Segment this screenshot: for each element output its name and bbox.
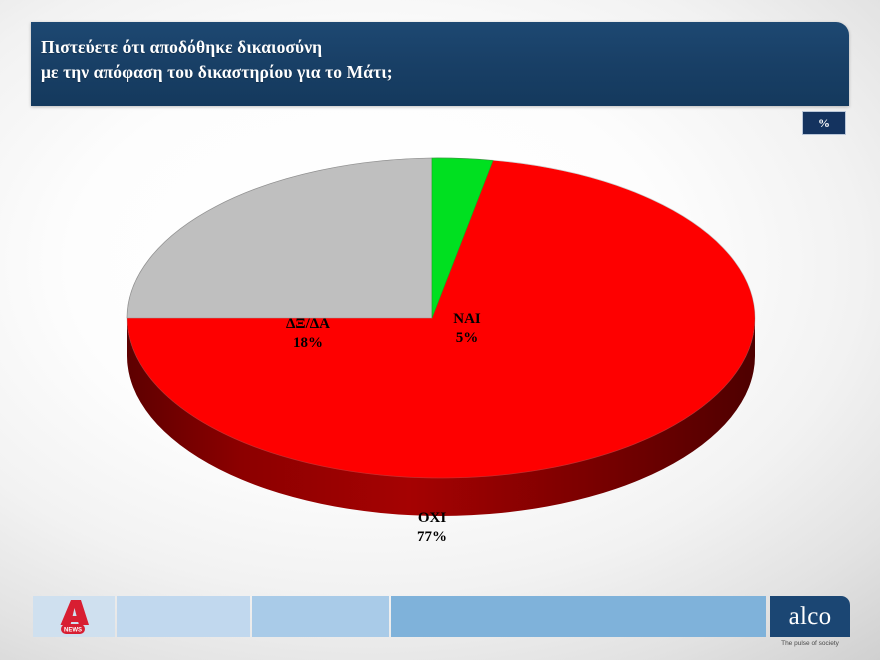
title-banner: Πιστεύετε ότι αποδόθηκε δικαιοσύνη με τη… — [31, 22, 849, 106]
footer-bar-1 — [117, 596, 250, 637]
footer-bar-3 — [391, 596, 766, 637]
pie-chart-svg — [0, 130, 880, 570]
pie-slice-dxda[interactable] — [127, 158, 432, 318]
pie-chart: ΝΑΙ 5% ΔΞ/ΔΑ 18% ΟΧΙ 77% — [0, 130, 880, 570]
footer: NEWS alco The pulse of society — [0, 585, 880, 660]
page-title: Πιστεύετε ότι αποδόθηκε δικαιοσύνη με τη… — [41, 35, 393, 85]
svg-text:NEWS: NEWS — [64, 627, 82, 633]
alco-logo: alco — [770, 596, 850, 637]
alpha-news-logo-icon: NEWS — [51, 598, 97, 636]
pie-label-dxda: ΔΞ/ΔΑ 18% — [258, 315, 358, 353]
alco-tagline: The pulse of society — [770, 640, 850, 647]
slide-root: Πιστεύετε ότι αποδόθηκε δικαιοσύνη με τη… — [0, 0, 880, 660]
footer-bar-2 — [252, 596, 389, 637]
pie-label-nai: ΝΑΙ 5% — [432, 310, 502, 348]
footer-logo-bar: NEWS — [33, 596, 115, 637]
pie-label-oxi: ΟΧΙ 77% — [382, 509, 482, 547]
